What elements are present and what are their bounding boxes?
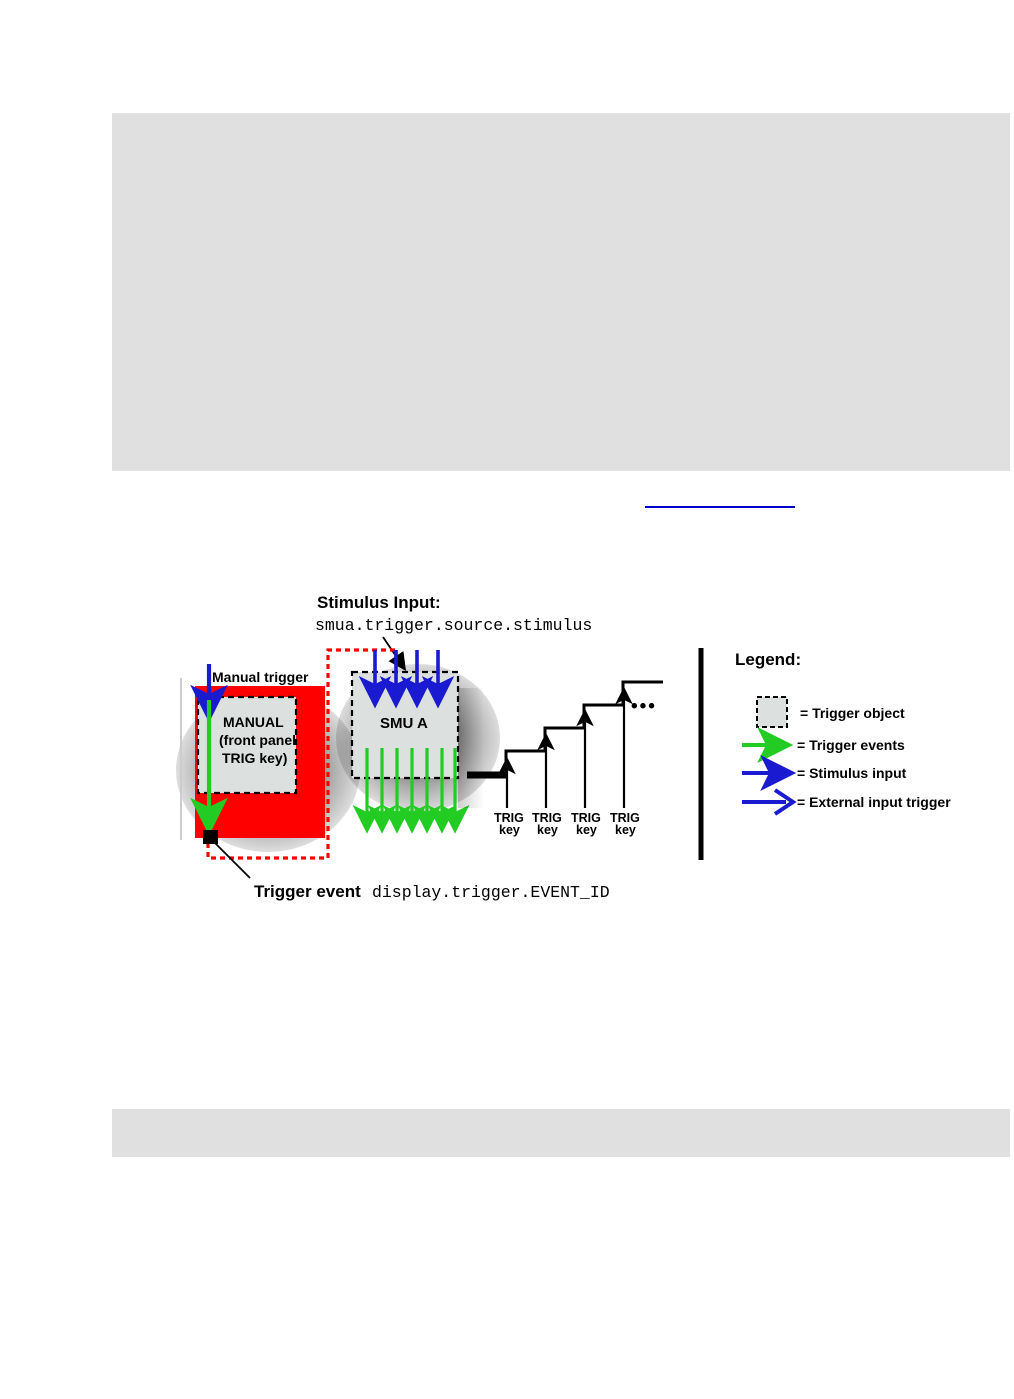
- manual-trigger-label: Manual trigger: [212, 669, 309, 685]
- legend-item-4-label: = External input trigger: [797, 794, 951, 810]
- legend-green-double-arrow-icon: [742, 739, 791, 751]
- legend-title: Legend:: [735, 650, 801, 669]
- waveform-step-labels: TRIG key TRIG key TRIG key TRIG key: [494, 811, 640, 837]
- waveform-fade-left: [458, 688, 484, 808]
- stimulus-callout-pointer: [383, 637, 404, 668]
- waveform-trig-arrows: [507, 690, 624, 808]
- trigger-event-caption-prefix: Trigger event: [254, 882, 361, 901]
- trig-key-label-2-line2: key: [537, 823, 558, 837]
- trigger-model-diagram: Stimulus Input: smua.trigger.source.stim…: [0, 560, 1014, 920]
- trig-key-label-1-line2: key: [499, 823, 520, 837]
- manual-box-line2: (front panel: [219, 732, 296, 748]
- manual-box-line3: TRIG key): [222, 750, 287, 766]
- smu-a-label: SMU A: [380, 715, 428, 732]
- document-page: Stimulus Input: smua.trigger.source.stim…: [0, 0, 1014, 1399]
- trig-key-label-3-line2: key: [576, 823, 597, 837]
- redacted-content-block-top: [112, 113, 1010, 471]
- trig-key-label-4-line2: key: [615, 823, 636, 837]
- legend-item-1-label: = Trigger object: [800, 705, 905, 721]
- legend-item-3-label: = Stimulus input: [797, 765, 907, 781]
- trigger-event-caption-code: display.trigger.EVENT_ID: [372, 883, 610, 902]
- redacted-content-block-bottom: [112, 1109, 1010, 1157]
- manual-box-line1: MANUAL: [223, 714, 284, 730]
- trigger-event-node: [203, 830, 218, 844]
- stimulus-callout-code: smua.trigger.source.stimulus: [315, 616, 592, 635]
- stimulus-callout-heading: Stimulus Input:: [317, 593, 441, 612]
- legend-trigger-object-swatch-icon: [757, 697, 787, 727]
- link-underline-rule[interactable]: [645, 506, 795, 508]
- waveform-ellipsis: •••: [631, 696, 657, 717]
- legend-blue-open-arrow-icon: [742, 790, 793, 814]
- legend-item-2-label: = Trigger events: [797, 737, 905, 753]
